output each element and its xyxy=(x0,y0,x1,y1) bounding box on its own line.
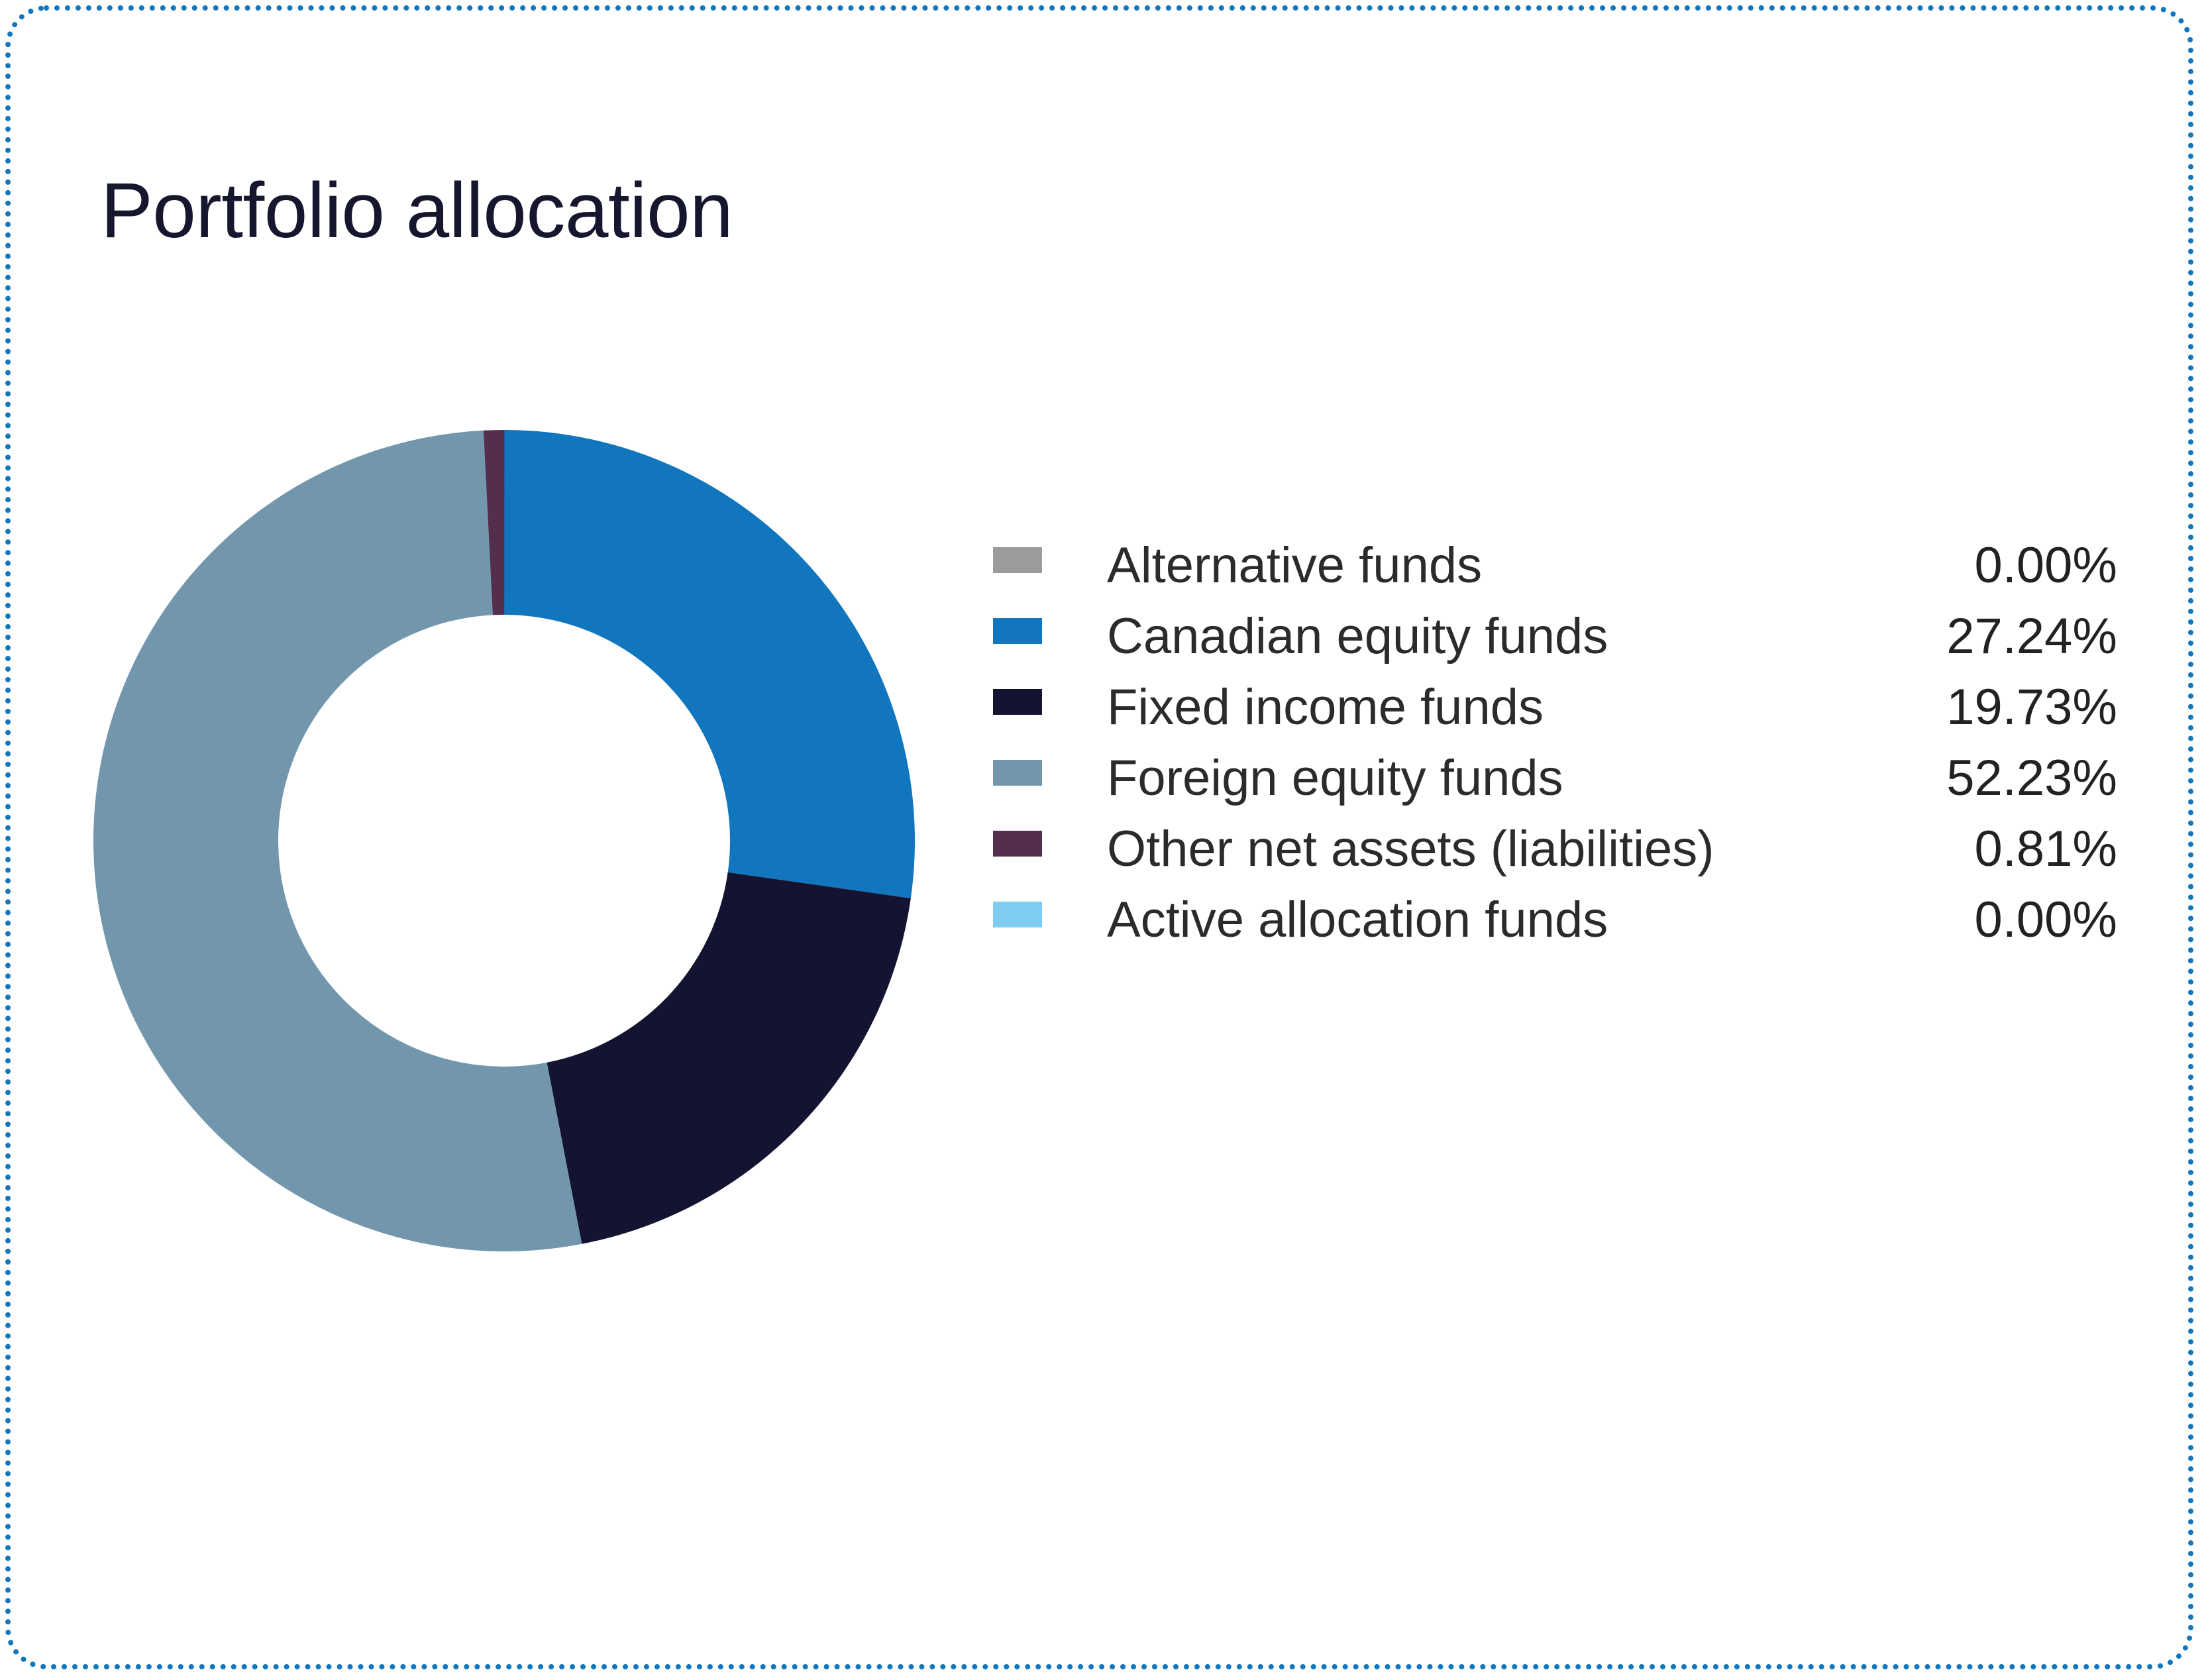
legend-row-other-net-assets[interactable]: Other net assets (liabilities) 0.81% xyxy=(993,817,2119,888)
donut-slice-fixed-income-funds[interactable] xyxy=(547,872,911,1244)
legend-value-alternative-funds: 0.00% xyxy=(1653,534,2117,598)
legend-label-canadian-equity-funds: Canadian equity funds xyxy=(1107,605,1608,668)
donut-slice-group xyxy=(93,430,915,1251)
legend-swatch-other-net-assets xyxy=(993,831,1042,857)
legend-value-fixed-income-funds: 19.73% xyxy=(1653,676,2117,739)
portfolio-allocation-card: Portfolio allocation Alternative funds 0… xyxy=(5,5,2193,1669)
legend-value-active-allocation-funds: 0.00% xyxy=(1653,888,2117,952)
legend-label-fixed-income-funds: Fixed income funds xyxy=(1107,676,1544,739)
legend-row-canadian-equity-funds[interactable]: Canadian equity funds 27.24% xyxy=(993,605,2119,676)
legend-value-foreign-equity-funds: 52.23% xyxy=(1653,747,2117,810)
legend-row-active-allocation-funds[interactable]: Active allocation funds 0.00% xyxy=(993,888,2119,959)
donut-svg xyxy=(93,430,915,1251)
donut-slice-canadian-equity-funds[interactable] xyxy=(504,430,915,898)
page-title: Portfolio allocation xyxy=(101,172,733,250)
legend-swatch-canadian-equity-funds xyxy=(993,618,1042,644)
legend-swatch-active-allocation-funds xyxy=(993,902,1042,927)
legend-label-active-allocation-funds: Active allocation funds xyxy=(1107,888,1608,952)
legend-row-alternative-funds[interactable]: Alternative funds 0.00% xyxy=(993,534,2119,605)
legend-value-other-net-assets: 0.81% xyxy=(1653,817,2117,881)
legend-label-other-net-assets: Other net assets (liabilities) xyxy=(1107,817,1714,881)
legend-row-fixed-income-funds[interactable]: Fixed income funds 19.73% xyxy=(993,676,2119,747)
legend-row-foreign-equity-funds[interactable]: Foreign equity funds 52.23% xyxy=(993,747,2119,817)
legend-swatch-foreign-equity-funds xyxy=(993,760,1042,786)
legend-swatch-fixed-income-funds xyxy=(993,689,1042,715)
portfolio-allocation-donut-chart xyxy=(93,430,915,1251)
legend-label-foreign-equity-funds: Foreign equity funds xyxy=(1107,747,1563,810)
legend-value-canadian-equity-funds: 27.24% xyxy=(1653,605,2117,668)
legend-swatch-alternative-funds xyxy=(993,547,1042,573)
chart-legend: Alternative funds 0.00% Canadian equity … xyxy=(993,534,2119,959)
legend-label-alternative-funds: Alternative funds xyxy=(1107,534,1482,598)
